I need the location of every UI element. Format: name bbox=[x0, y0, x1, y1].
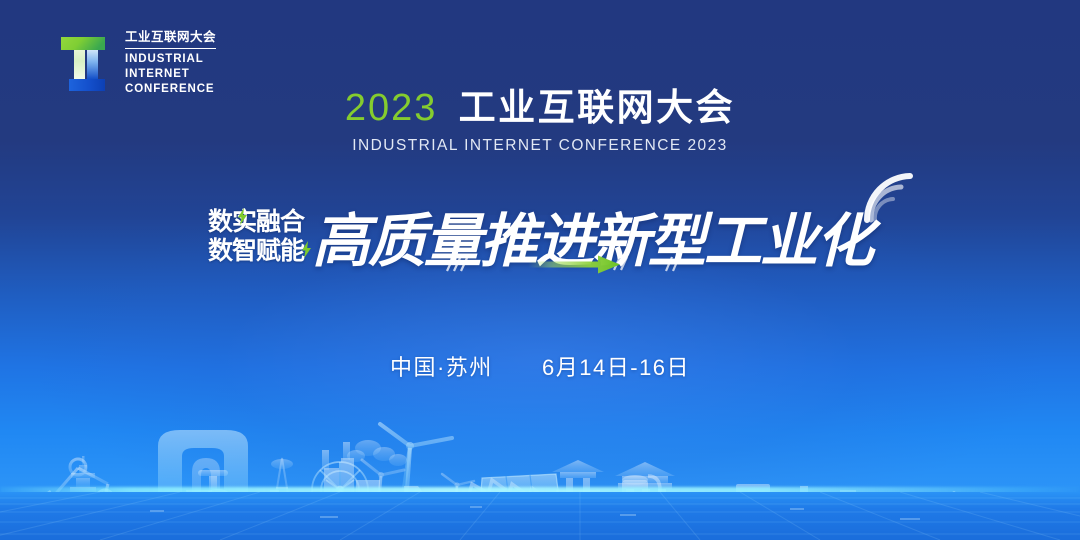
lightning-bolt-icon bbox=[302, 241, 311, 258]
ground-plane bbox=[0, 492, 1080, 540]
suzhou-pagoda-icon bbox=[70, 456, 96, 518]
wind-turbine-icon bbox=[362, 460, 404, 518]
main-slogan-text: 高质量推进新型工业化 bbox=[312, 207, 872, 275]
slogan-kicker: 数实融合 数智赋能 bbox=[208, 209, 304, 265]
logo-en-line-2: INTERNET bbox=[125, 67, 216, 82]
cargo-truck-icon bbox=[696, 484, 814, 522]
kicker-line-2-text: 数智赋能 bbox=[208, 236, 304, 265]
gate-of-the-orient-icon bbox=[158, 430, 248, 518]
perspective-data-grid bbox=[0, 492, 1080, 540]
cargo-truck-icon bbox=[818, 490, 880, 518]
skyline-illustration bbox=[0, 380, 1080, 540]
event-title-chinese: 工业互联网大会 bbox=[459, 87, 736, 128]
oil-pumpjack-icon bbox=[462, 480, 546, 518]
horizon-glow bbox=[0, 487, 1080, 496]
lightning-bolt-icon bbox=[238, 208, 247, 225]
logo-chinese-name: 工业互联网大会 bbox=[125, 30, 216, 49]
event-dates: 6月14日-16日 bbox=[542, 355, 690, 380]
solar-panel-icon bbox=[566, 494, 606, 518]
kicker-line-1-text: 数实融合 bbox=[208, 207, 304, 236]
traditional-pavilion-icon bbox=[615, 462, 675, 518]
wind-turbine-icon bbox=[380, 424, 452, 518]
storage-tank-icon bbox=[622, 475, 692, 520]
robot-arm-icon bbox=[40, 459, 122, 514]
event-title: 2023 工业互联网大会 bbox=[0, 88, 1080, 128]
event-meta: 中国·苏州 6月14日-16日 bbox=[0, 350, 1080, 382]
factory-smokestacks-icon bbox=[300, 442, 380, 518]
arch-bridge-icon bbox=[890, 491, 1008, 516]
solar-panel-icon bbox=[480, 474, 560, 519]
industrial-internet-conference-logo-mark bbox=[56, 34, 114, 94]
kicker-line-1: 数实融合 bbox=[208, 209, 304, 236]
slogan-row: 数实融合 数智赋能 高质量推进新型工业化 bbox=[0, 186, 1080, 286]
event-year: 2023 bbox=[345, 87, 438, 129]
conference-banner: 工业互联网大会 INDUSTRIAL INTERNET CONFERENCE 2… bbox=[0, 0, 1080, 540]
ferris-wheel-icon bbox=[312, 462, 368, 518]
factory-truck-icon bbox=[382, 486, 444, 518]
chinese-pagoda-gate-icon bbox=[552, 460, 604, 518]
wind-turbine-icon bbox=[442, 474, 474, 518]
event-subtitle: INDUSTRIAL INTERNET CONFERENCE 2023 bbox=[0, 137, 1080, 155]
logo-en-line-1: INDUSTRIAL bbox=[125, 52, 216, 67]
event-title-block: 2023 工业互联网大会 INDUSTRIAL INTERNET CONFERE… bbox=[0, 88, 1080, 155]
kicker-line-2: 数智赋能 bbox=[208, 238, 304, 265]
smoke-cloud-icon bbox=[347, 440, 407, 466]
industrial-valve-icon bbox=[160, 470, 279, 519]
tv-tower-icon bbox=[271, 432, 293, 518]
event-location: 中国·苏州 bbox=[390, 355, 493, 380]
main-slogan: 高质量推进新型工业化 bbox=[312, 194, 872, 278]
